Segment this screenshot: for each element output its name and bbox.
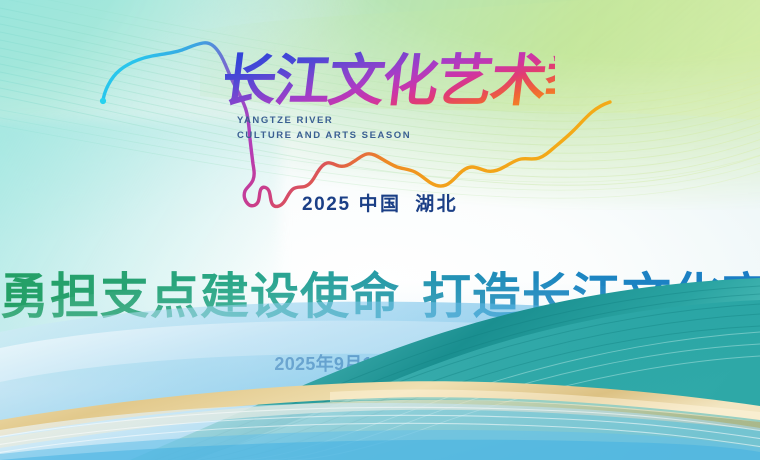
- english-title-line-2: CULTURE AND ARTS SEASON: [237, 128, 411, 143]
- english-title: YANGTZE RIVER CULTURE AND ARTS SEASON: [237, 113, 411, 143]
- province-text: 湖北: [415, 194, 458, 215]
- year-location-line: 2025中国 湖北: [0, 189, 760, 216]
- calligraphy-title-artwork: 长江文化艺术季: [225, 46, 555, 118]
- poster-canvas: 长江文化艺术季 YANGTZE RIVER CULTURE AND ARTS S…: [0, 0, 760, 460]
- calligraphy-glyphs: 长江文化艺术季: [225, 49, 555, 114]
- english-title-line-1: YANGTZE RIVER: [237, 113, 411, 128]
- calligraphy-title: 长江文化艺术季: [225, 46, 555, 118]
- year-text: 2025: [302, 194, 351, 215]
- country-text: 中国: [359, 194, 402, 215]
- bottom-wave-decoration: [0, 270, 760, 460]
